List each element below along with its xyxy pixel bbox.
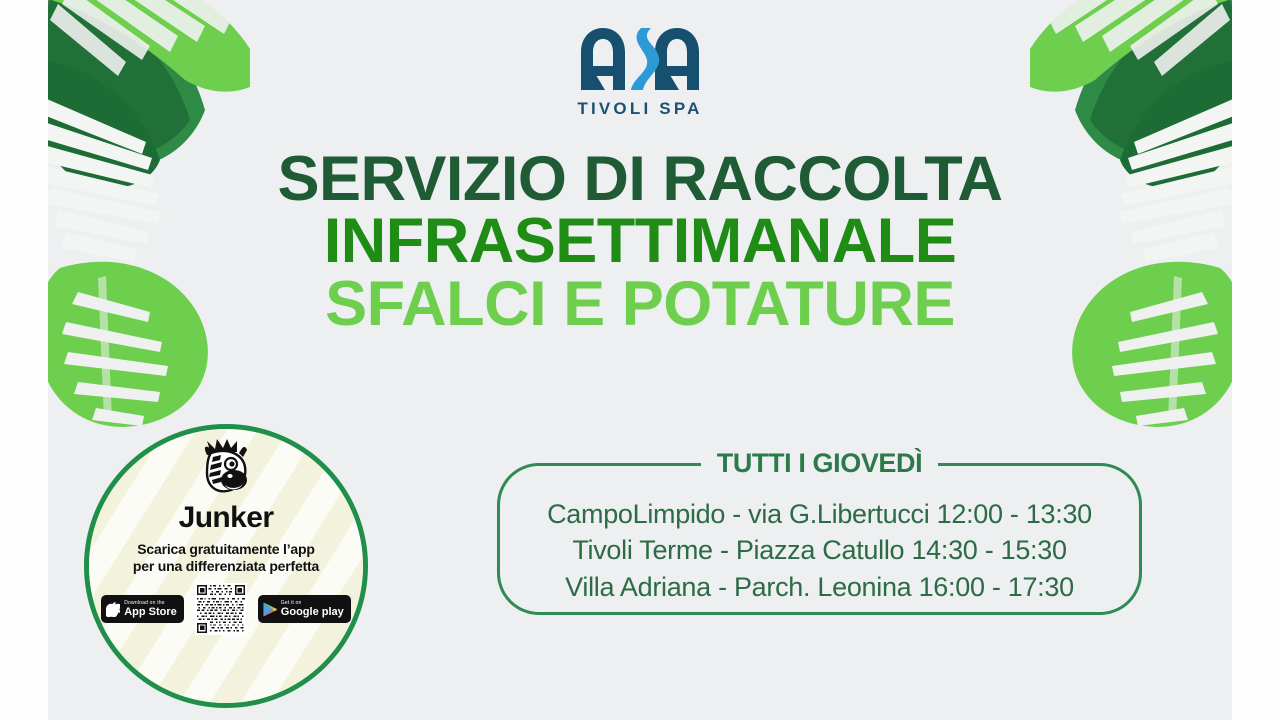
junker-app-badge[interactable]: Junker Scarica gratuitamente l’app per u… <box>84 424 368 708</box>
brand-logo: TIVOLI SPA <box>0 26 1280 119</box>
schedule-stop-item: CampoLimpido - via G.Libertucci 12:00 - … <box>500 496 1139 532</box>
google-play-button[interactable]: Get it on Google play <box>258 595 351 623</box>
google-play-icon <box>263 602 277 617</box>
schedule-stop-item: Villa Adriana - Parch. Leonina 16:00 - 1… <box>500 569 1139 605</box>
junker-wordmark: Junker <box>179 501 274 535</box>
asa-wave-logo-icon <box>575 26 705 97</box>
qr-code-icon[interactable] <box>195 583 247 635</box>
apple-icon <box>106 601 120 617</box>
junker-tagline-line-2: per una differenziata perfetta <box>133 558 319 575</box>
app-store-button[interactable]: Download on the App Store <box>101 595 184 623</box>
poster-canvas: TIVOLI SPA SERVIZIO DI RACCOLTA INFRASET… <box>0 0 1280 720</box>
headline-line-1: SERVIZIO DI RACCOLTA <box>0 148 1280 210</box>
app-store-big-label: App Store <box>124 607 177 618</box>
left-edge-strip <box>0 0 48 720</box>
right-edge-strip <box>1232 0 1280 720</box>
app-store-small-label: Download on the <box>124 601 177 606</box>
google-play-big-label: Google play <box>281 607 344 618</box>
junker-tagline-line-1: Scarica gratuitamente l’app <box>133 541 319 558</box>
schedule-stop-item: Tivoli Terme - Piazza Catullo 14:30 - 15… <box>500 532 1139 568</box>
schedule-stop-list: CampoLimpido - via G.Libertucci 12:00 - … <box>500 496 1139 605</box>
headline-block: SERVIZIO DI RACCOLTA INFRASETTIMANALE SF… <box>0 148 1280 335</box>
google-play-small-label: Get it on <box>281 601 344 606</box>
logo-subtitle: TIVOLI SPA <box>0 99 1280 119</box>
schedule-card: TUTTI I GIOVEDÌ CampoLimpido - via G.Lib… <box>497 463 1142 615</box>
schedule-title: TUTTI I GIOVEDÌ <box>701 448 939 479</box>
headline-line-2: INFRASETTIMANALE <box>0 210 1280 272</box>
junker-tagline: Scarica gratuitamente l’app per una diff… <box>133 541 319 574</box>
zebra-head-icon <box>195 439 257 500</box>
headline-line-3: SFALCI E POTATURE <box>0 273 1280 335</box>
